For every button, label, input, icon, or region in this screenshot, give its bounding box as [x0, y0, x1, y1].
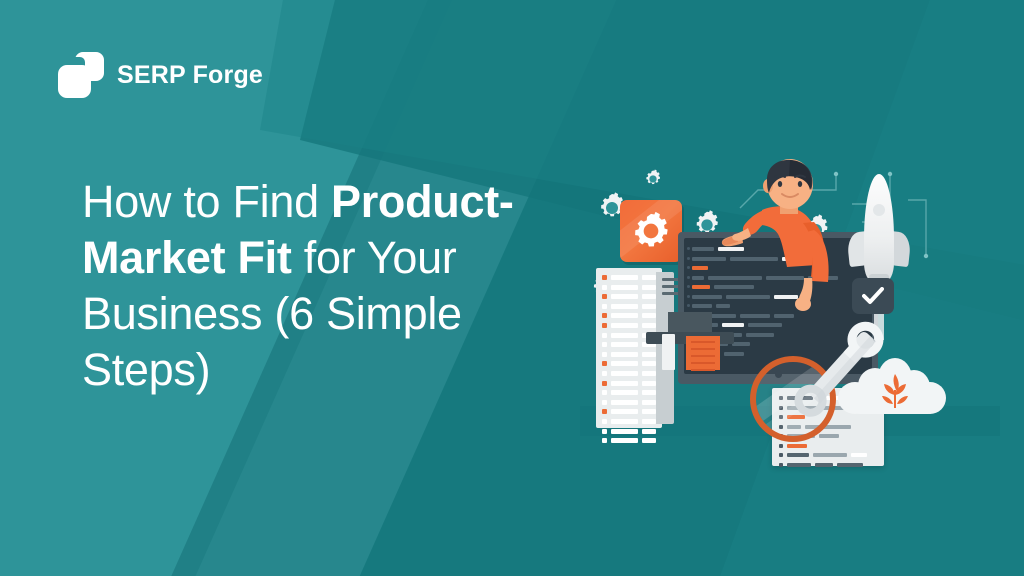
- code-token: [692, 247, 714, 251]
- checklist-row: [602, 429, 656, 434]
- gear-outline-icon-small: [642, 168, 664, 190]
- checklist-empty-icon: [602, 400, 607, 405]
- checklist-label-bar: [611, 313, 638, 318]
- checklist-label-bar: [611, 438, 638, 443]
- checklist-value-bar: [642, 419, 656, 424]
- checklist-label-bar: [611, 323, 638, 328]
- code-token: [692, 285, 710, 289]
- checklist-row: [602, 400, 656, 405]
- checklist-empty-icon: [602, 342, 607, 347]
- checklist-value-bar: [642, 381, 656, 386]
- doc-row: [779, 444, 877, 448]
- checklist-value-bar: [642, 400, 656, 405]
- wrench-icon: [780, 308, 900, 428]
- doc-bar: [787, 453, 809, 457]
- checklist-label-bar: [611, 409, 638, 414]
- checklist-check-icon: [602, 409, 607, 414]
- checklist-empty-icon: [602, 419, 607, 424]
- code-token: [724, 352, 744, 356]
- checklist-check-icon: [602, 275, 607, 280]
- checklist-empty-icon: [602, 352, 607, 357]
- developer-product-market-fit-illustration: [590, 160, 990, 430]
- checklist-label-bar: [611, 304, 638, 309]
- checklist-value-bar: [642, 313, 656, 318]
- checklist-row: [602, 304, 656, 309]
- checklist-check-icon: [602, 294, 607, 299]
- overlapping-rounded-squares-icon: [58, 52, 104, 98]
- code-token: [692, 304, 712, 308]
- checklist-row: [602, 361, 656, 366]
- checklist-check-icon: [602, 323, 607, 328]
- checklist-row: [602, 409, 656, 414]
- checklist-label-bar: [611, 294, 638, 299]
- doc-bar: [813, 453, 847, 457]
- doc-bar: [787, 444, 807, 448]
- checklist-row: [602, 294, 656, 299]
- sticky-note: [686, 336, 720, 370]
- checklist-empty-icon: [602, 304, 607, 309]
- checklist-value-bar: [642, 275, 656, 280]
- checklist-label-bar: [611, 381, 638, 386]
- checklist-label-bar: [611, 361, 638, 366]
- checklist-value-bar: [642, 390, 656, 395]
- gear-card-icon: [620, 200, 682, 262]
- doc-bullet-icon: [779, 444, 783, 448]
- checklist-empty-icon: [602, 429, 607, 434]
- doc-bar: [851, 453, 867, 457]
- checklist-label-bar: [611, 333, 638, 338]
- checklist-value-bar: [642, 304, 656, 309]
- checklist-rows: [602, 275, 656, 448]
- checklist-value-bar: [642, 294, 656, 299]
- code-token: [692, 276, 704, 280]
- checklist-label-bar: [611, 429, 638, 434]
- checklist-label-bar: [611, 275, 638, 280]
- checklist-row: [602, 323, 656, 328]
- checklist-check-icon: [602, 381, 607, 386]
- person-with-orange-shirt: [718, 158, 858, 328]
- checklist-check-icon: [602, 361, 607, 366]
- checklist-value-bar: [642, 361, 656, 366]
- headline-part-1: How to Find: [82, 176, 331, 227]
- checklist-label-bar: [611, 419, 638, 424]
- code-token: [732, 342, 750, 346]
- checklist-document: [596, 268, 662, 428]
- checklist-empty-icon: [602, 333, 607, 338]
- checklist-row: [602, 381, 656, 386]
- checklist-empty-icon: [602, 285, 607, 290]
- doc-bar: [787, 463, 811, 467]
- checklist-row: [602, 313, 656, 318]
- checklist-row: [602, 285, 656, 290]
- feature-image-canvas: SERP Forge How to Find Product-Market Fi…: [0, 0, 1024, 576]
- checklist-label-bar: [611, 371, 638, 376]
- doc-bullet-icon: [779, 453, 783, 457]
- checklist-row: [602, 275, 656, 280]
- checklist-value-bar: [642, 409, 656, 414]
- brand-logo[interactable]: SERP Forge: [58, 52, 263, 98]
- checklist-value-bar: [642, 429, 656, 434]
- checklist-empty-icon: [602, 371, 607, 376]
- doc-row: [779, 453, 877, 457]
- checklist-label-bar: [611, 285, 638, 290]
- page-title: How to Find Product-Market Fit for Your …: [82, 174, 602, 398]
- checklist-label-bar: [611, 352, 638, 357]
- checklist-empty-icon: [602, 390, 607, 395]
- code-token: [692, 266, 708, 270]
- doc-row: [779, 463, 877, 467]
- paper-sheet: [662, 334, 675, 370]
- checklist-value-bar: [642, 438, 656, 443]
- checklist-row: [602, 371, 656, 376]
- checklist-label-bar: [611, 342, 638, 347]
- checklist-row: [602, 352, 656, 357]
- checklist-value-bar: [642, 352, 656, 357]
- checklist-row: [602, 390, 656, 395]
- checklist-label-bar: [611, 390, 638, 395]
- code-token: [746, 333, 774, 337]
- checklist-value-bar: [642, 371, 656, 376]
- checklist-row: [602, 438, 656, 443]
- checklist-value-bar: [642, 323, 656, 328]
- checklist-row: [602, 419, 656, 424]
- doc-bullet-icon: [779, 463, 783, 467]
- brand-name: SERP Forge: [117, 61, 263, 90]
- checklist-check-icon: [602, 313, 607, 318]
- checklist-value-bar: [642, 285, 656, 290]
- doc-bar: [837, 463, 863, 467]
- checklist-empty-icon: [602, 438, 607, 443]
- checklist-label-bar: [611, 400, 638, 405]
- doc-bar: [815, 463, 833, 467]
